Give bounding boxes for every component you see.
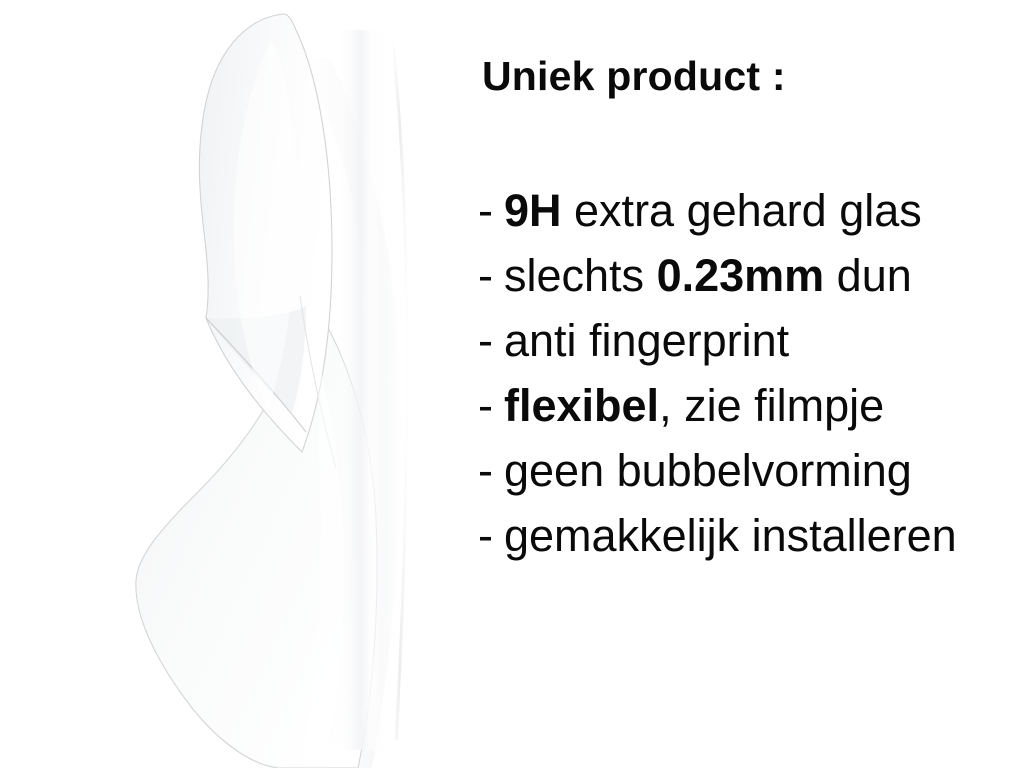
glass-highlight-band: [336, 30, 394, 750]
list-item-label: , zie filmpje: [659, 380, 884, 431]
list-item-label: anti fingerprint: [504, 315, 789, 366]
list-item-emphasis: 9H: [504, 185, 562, 236]
list-item-label: geen bubbelvorming: [504, 445, 912, 496]
list-item-label: slechts: [504, 250, 657, 301]
bullet-dash: -: [478, 178, 504, 243]
list-item: -slechts 0.23mm dun: [478, 243, 1024, 308]
list-item: -geen bubbelvorming: [478, 438, 1024, 503]
list-item: -anti fingerprint: [478, 308, 1024, 373]
glass-sheet-illustration: [0, 0, 460, 768]
list-item: -9H extra gehard glas: [478, 178, 1024, 243]
bullet-dash: -: [478, 243, 504, 308]
list-item-emphasis: 0.23mm: [657, 250, 825, 301]
text-panel: Uniek product : -9H extra gehard glas-sl…: [478, 0, 1024, 768]
list-item-emphasis: flexibel: [504, 380, 659, 431]
page-title: Uniek product :: [482, 52, 786, 100]
list-item-label: gemakkelijk installeren: [504, 510, 957, 561]
product-promo-banner: Uniek product : -9H extra gehard glas-sl…: [0, 0, 1024, 768]
bullet-dash: -: [478, 503, 504, 568]
bullet-dash: -: [478, 308, 504, 373]
list-item-label: extra gehard glas: [562, 185, 922, 236]
feature-list: -9H extra gehard glas-slechts 0.23mm dun…: [478, 178, 1024, 568]
bullet-dash: -: [478, 373, 504, 438]
bullet-dash: -: [478, 438, 504, 503]
product-image: [0, 0, 460, 768]
list-item: -gemakkelijk installeren: [478, 503, 1024, 568]
list-item-label: dun: [824, 250, 912, 301]
list-item: -flexibel, zie filmpje: [478, 373, 1024, 438]
